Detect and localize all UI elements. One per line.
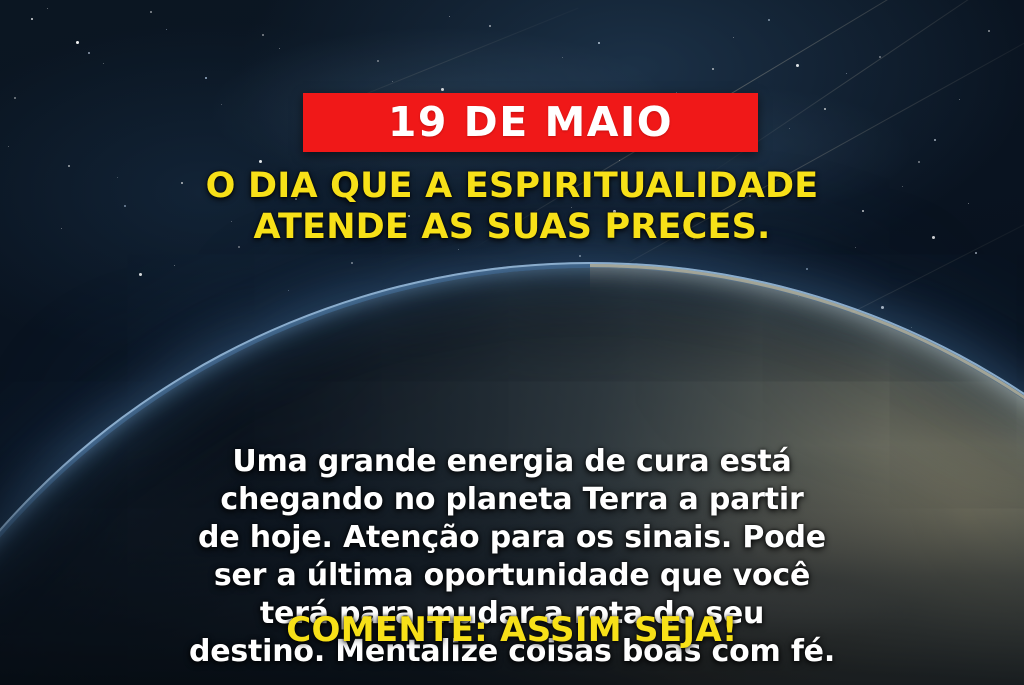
date-banner: 19 DE MAIO <box>303 93 758 152</box>
headline-line-2: ATENDE AS SUAS PRECES. <box>0 207 1024 248</box>
call-to-action: COMENTE: ASSIM SEJA! <box>0 612 1024 649</box>
date-banner-text: 19 DE MAIO <box>388 102 673 143</box>
headline-line-1: O DIA QUE A ESPIRITUALIDADE <box>206 166 819 206</box>
poster-content: 19 DE MAIO O DIA QUE A ESPIRITUALIDADE A… <box>0 0 1024 685</box>
body-line-4: ser a última oportunidade que você <box>50 557 974 595</box>
call-to-action-text: COMENTE: ASSIM SEJA! <box>286 610 738 650</box>
body-line-3: de hoje. Atenção para os sinais. Pode <box>50 519 974 557</box>
poster-image: 19 DE MAIO O DIA QUE A ESPIRITUALIDADE A… <box>0 0 1024 685</box>
body-line-2: chegando no planeta Terra a partir <box>50 481 974 519</box>
headline: O DIA QUE A ESPIRITUALIDADE ATENDE AS SU… <box>0 166 1024 249</box>
body-line-1: Uma grande energia de cura está <box>50 443 974 481</box>
